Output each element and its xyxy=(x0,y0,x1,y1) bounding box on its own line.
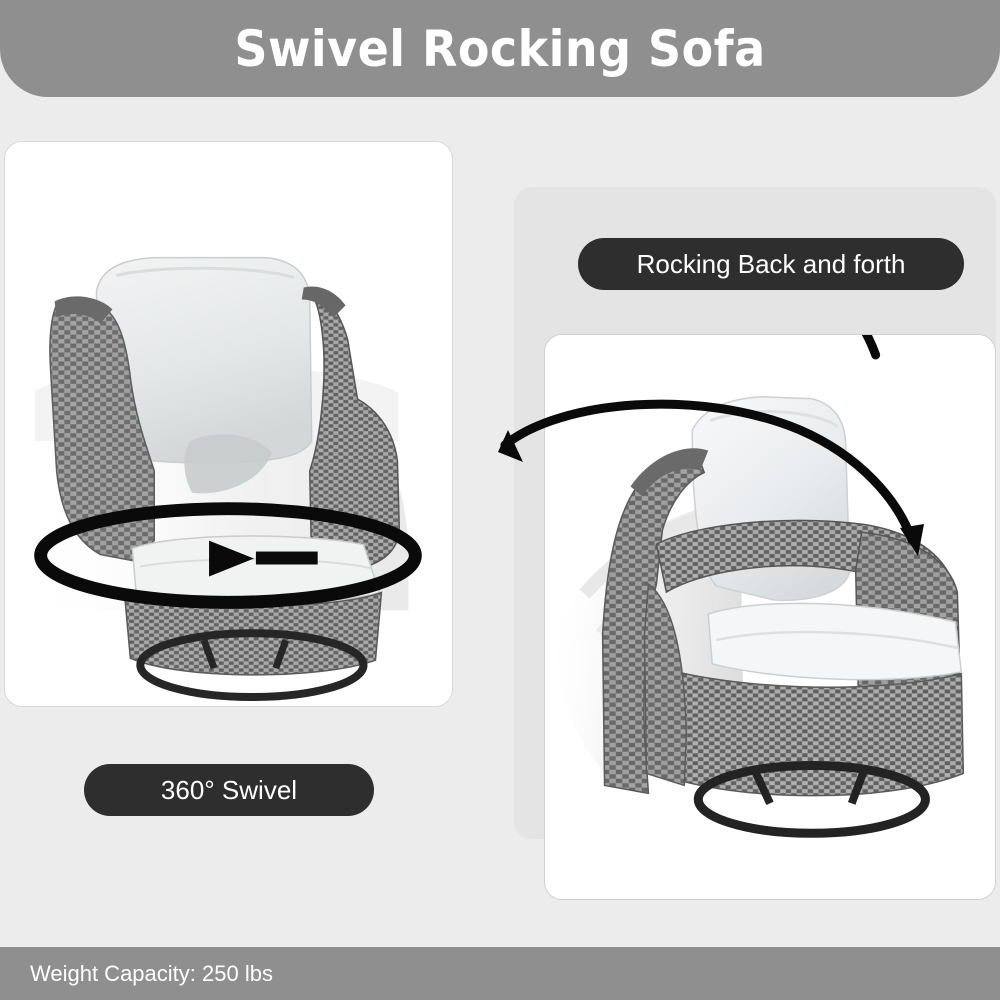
rocking-photo-card xyxy=(544,334,996,900)
badge-360-swivel[interactable]: 360° Swivel xyxy=(84,764,374,816)
footer-spec-bar: Weight Capacity: 250 lbs xyxy=(0,947,1000,1000)
swivel-chair-illustration xyxy=(5,142,452,706)
badge-rocking-back-and-forth[interactable]: Rocking Back and forth xyxy=(578,238,964,290)
weight-capacity-label: Weight Capacity: 250 lbs xyxy=(30,961,273,987)
swivel-photo-card xyxy=(4,141,453,707)
badge-rocking-label: Rocking Back and forth xyxy=(637,249,906,280)
badge-360-swivel-label: 360° Swivel xyxy=(161,775,297,806)
page-title: Swivel Rocking Sofa xyxy=(40,0,960,97)
rocking-chair-illustration xyxy=(545,335,995,899)
infographic-stage: Swivel Rocking Sofa xyxy=(0,0,1000,1000)
